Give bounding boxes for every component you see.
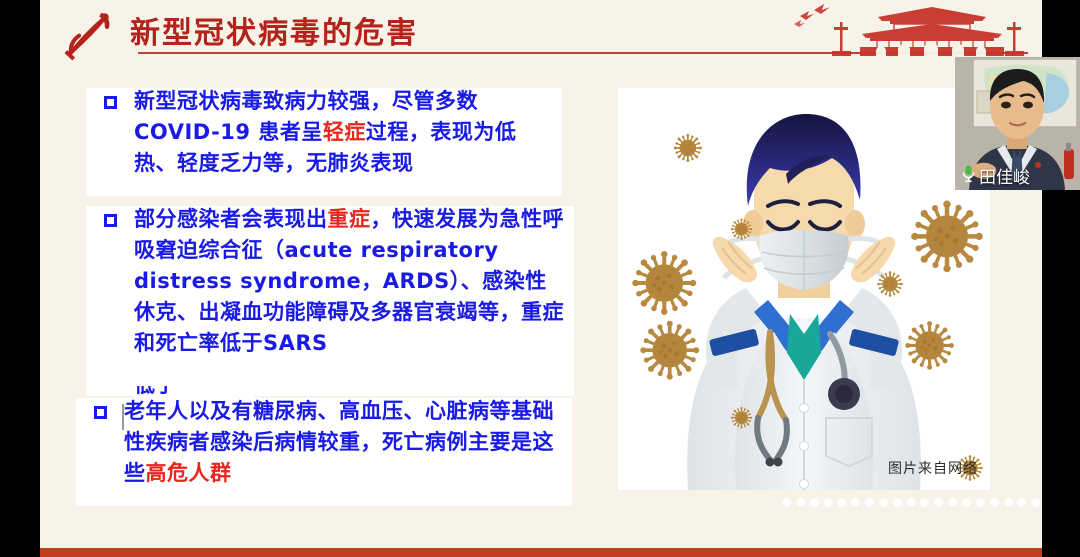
bullet-text-3: 老年人以及有糖尿病、高血压、心脏病等基础性疾病者感染后病情较重，死亡病例主要是这… <box>124 396 566 489</box>
page-title: 新型冠状病毒的危害 <box>130 8 418 52</box>
tiananmen-gate-icon <box>782 0 1032 56</box>
bullet-2-highlight: 重症 <box>328 207 371 231</box>
bullet-text-2: 部分感染者会表现出重症，快速发展为急性呼吸窘迫综合征（acute respira… <box>134 204 568 359</box>
bullet-box-2: 部分感染者会表现出重症，快速发展为急性呼吸窘迫综合征（acute respira… <box>86 206 574 396</box>
screen: 新型冠状病毒的危害 <box>0 0 1080 557</box>
text-cursor <box>122 404 124 430</box>
webcam-video-tile[interactable]: 田佳峻 <box>955 57 1080 190</box>
bullet-text-1: 新型冠状病毒致病力较强，尽管多数COVID-19 患者呈轻症过程，表现为低热、轻… <box>134 86 556 179</box>
slide-header: 新型冠状病毒的危害 <box>40 0 1042 68</box>
bullet-box-1: 新型冠状病毒致病力较强，尽管多数COVID-19 患者呈轻症过程，表现为低热、轻… <box>86 88 562 196</box>
image-source-caption: 图片来自网络 <box>888 458 978 478</box>
microphone-icon <box>961 164 976 188</box>
bullet-3-highlight: 高危人群 <box>146 461 232 485</box>
dotted-decoration <box>782 495 1042 509</box>
presentation-slide: 新型冠状病毒的危害 <box>40 0 1042 557</box>
participant-name: 田佳峻 <box>979 163 1030 188</box>
hammer-and-sickle-icon <box>60 6 116 62</box>
slide-bottom-bar <box>40 548 1042 557</box>
square-bullet-icon <box>104 96 117 109</box>
bullet-box-3: 老年人以及有糖尿病、高血压、心脏病等基础性疾病者感染后病情较重，死亡病例主要是这… <box>76 398 572 506</box>
bullet-1-highlight: 轻症 <box>323 120 366 144</box>
bullet-2-segment-plain-a: 部分感染者会表现出 <box>134 207 328 231</box>
square-bullet-icon <box>94 406 107 419</box>
square-bullet-icon <box>104 214 117 227</box>
doctor-wearing-mask-illustration: 图片来自网络 <box>618 88 990 490</box>
participant-name-badge: 田佳峻 <box>961 163 1030 188</box>
